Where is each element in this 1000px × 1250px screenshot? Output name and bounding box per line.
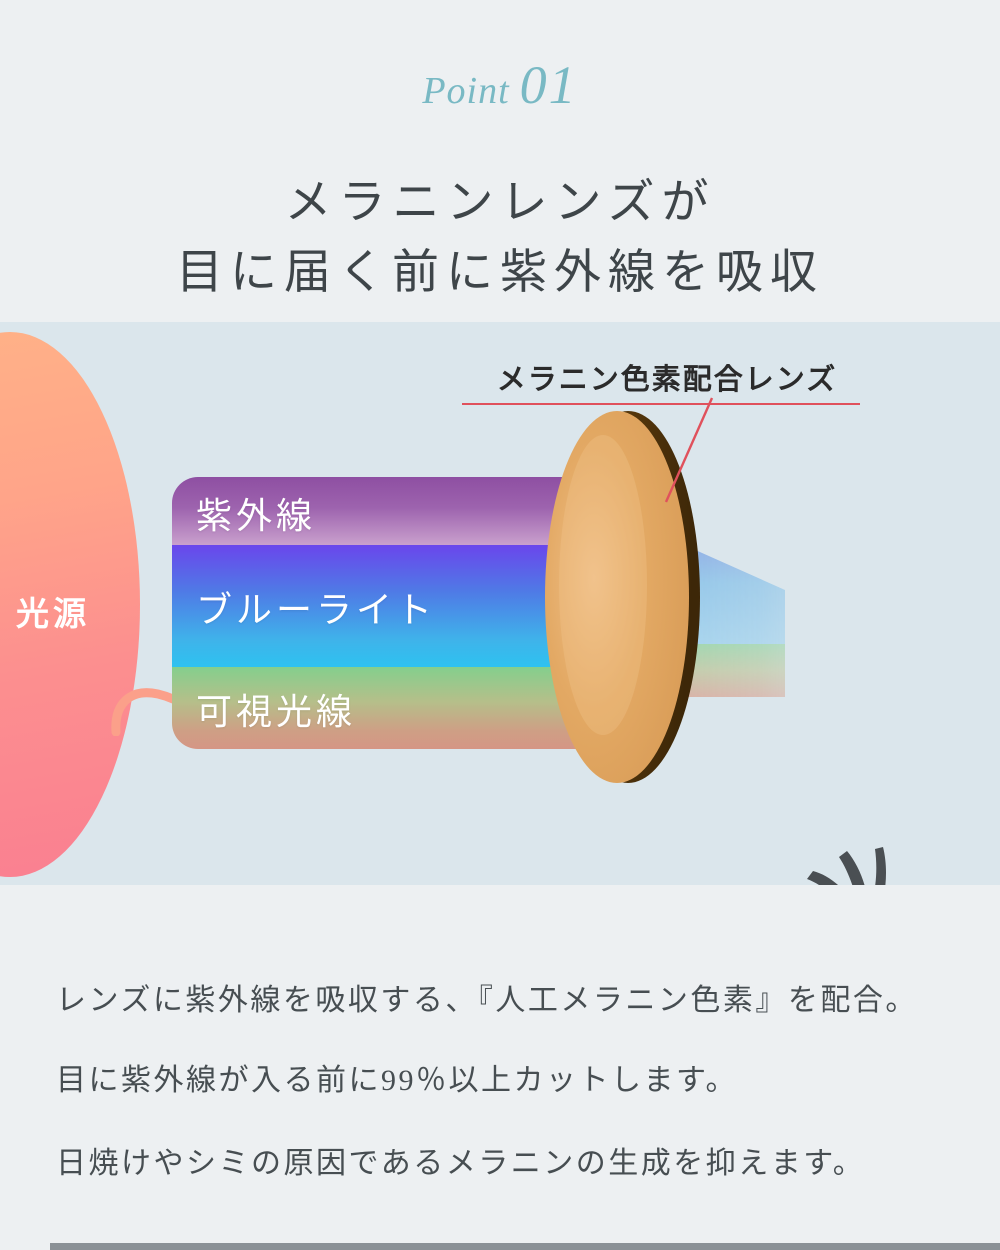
point-word: Point [422,70,509,112]
eye-icon [795,845,985,885]
bottom-divider [50,1243,1000,1250]
body-line-1: レンズに紫外線を吸収する、『人工メラニン色素』を配合。 [56,975,918,1019]
band-label-ultraviolet: 紫外線 [196,487,316,539]
callout-leader-line [660,396,720,506]
body-line-3: 日焼けやシミの原因であるメラニンの生成を抑えます。 [56,1138,865,1182]
band-label-visible-light: 可視光線 [196,683,356,735]
band-ultraviolet: 紫外線 [172,477,602,545]
lens-callout-label: メラニン色素配合レンズ [462,356,872,398]
headline-line-2: 目に届く前に紫外線を吸収 [0,239,1000,309]
body-line-2: 目に紫外線が入る前に99％以上カットします。 [56,1055,738,1099]
headline-line-1: メラニンレンズが [0,169,1000,239]
point-number: 01 [520,55,578,115]
header-section: Point01 メラニンレンズが 目に届く前に紫外線を吸収 [0,0,1000,322]
point-label: Point01 [0,58,1000,112]
band-label-blue-light: ブルーライト [196,581,436,633]
light-beam-bands: 紫外線 ブルーライト 可視光線 [172,477,602,749]
body-copy-section: レンズに紫外線を吸収する、『人工メラニン色素』を配合。 目に紫外線が入る前に99… [0,885,1000,1250]
light-source-label: 光源 [16,587,90,635]
page-title: メラニンレンズが 目に届く前に紫外線を吸収 [0,169,1000,308]
band-blue-light: ブルーライト [172,545,602,667]
band-visible-light: 可視光線 [172,667,602,749]
illustration-panel: 光源 紫外線 ブルーライト 可視光線 [0,322,1000,885]
